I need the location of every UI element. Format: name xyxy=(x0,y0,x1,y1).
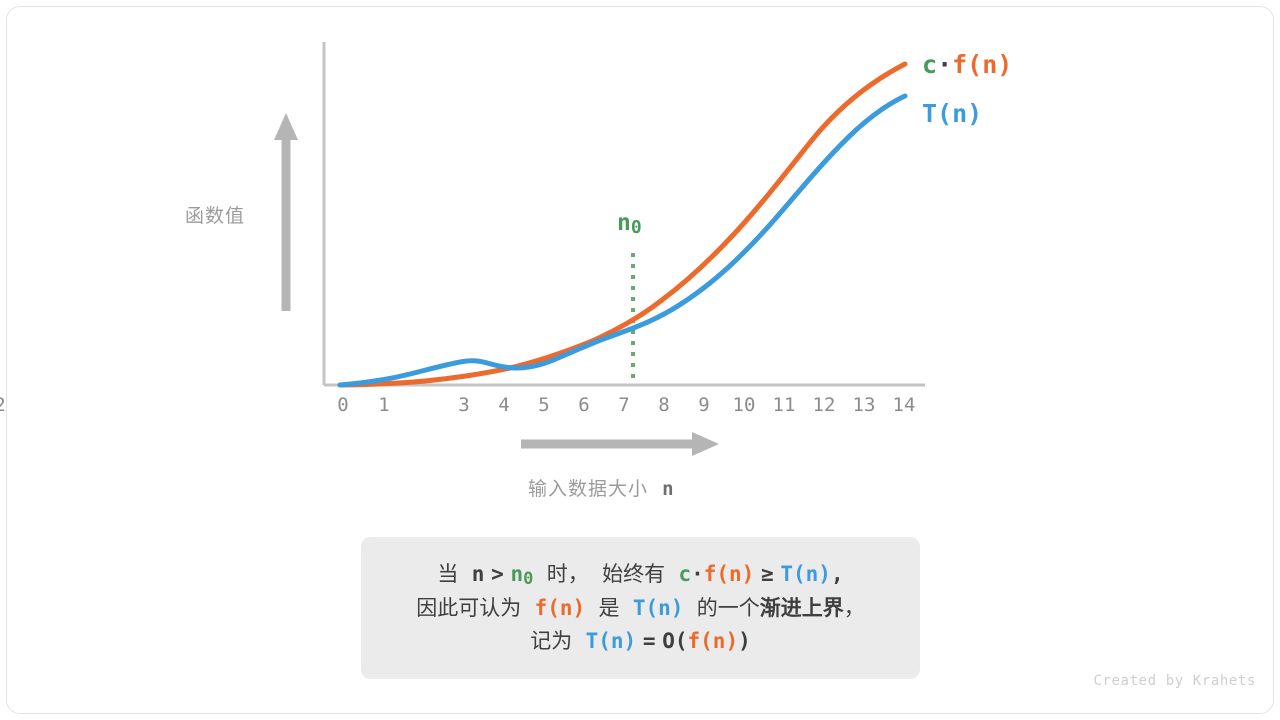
x-tick-label: 8 xyxy=(644,394,684,416)
x-tick-label: 11 xyxy=(764,394,804,416)
caption-line-2: 因此可认为 f(n) 是 T(n) 的一个渐进上界， xyxy=(416,595,865,623)
caption-l2-tn: T(n) xyxy=(633,596,684,620)
caption-l3-close-paren: ) xyxy=(738,629,751,653)
x-tick-label: 0 xyxy=(323,394,363,416)
caption-l2-comma: ， xyxy=(844,596,865,620)
legend-upper-function: f(n) xyxy=(952,50,1012,79)
caption-l3-tn: T(n) xyxy=(586,629,637,653)
caption-l1-fn: f(n) xyxy=(704,562,755,586)
caption-l3-denoted: 记为 xyxy=(530,629,572,653)
x-tick-label: 6 xyxy=(564,394,604,416)
caption-l1-ge: ≥ xyxy=(761,562,774,586)
caption-line-3: 记为 T(n) = O(f(n)) xyxy=(530,628,751,656)
caption-l1-comma: , xyxy=(831,562,844,586)
caption-l1-gt: > xyxy=(491,562,504,586)
x-tick-label: 7 xyxy=(604,394,644,416)
x-axis-arrow-icon xyxy=(521,432,719,456)
y-axis-arrow-icon xyxy=(274,113,298,311)
caption-l1-dot: · xyxy=(691,562,704,586)
x-tick-label: 3 xyxy=(444,394,484,416)
x-axis-label-text: 输入数据大小 xyxy=(528,478,648,500)
curve-lower-tn xyxy=(340,96,905,385)
x-tick-label: 12 xyxy=(804,394,844,416)
x-tick-label: 10 xyxy=(724,394,764,416)
caption-l1-coefficient: c xyxy=(678,562,691,586)
legend-label-upper-curve: c·f(n) xyxy=(922,50,1012,79)
caption-l2-is: 是 xyxy=(599,596,620,620)
x-tick-label: 4 xyxy=(484,394,524,416)
n0-marker-label: n0 xyxy=(617,210,642,238)
caption-l2-fn: f(n) xyxy=(535,596,586,620)
x-tick-label: 2 xyxy=(0,394,20,416)
caption-line-1: 当 n > n0 时， 始终有 c·f(n) ≥ T(n), xyxy=(437,561,843,590)
caption-l3-big-o: O( xyxy=(662,629,687,653)
caption-l2-of-a: 的一个 xyxy=(697,596,760,620)
caption-l3-equals: = xyxy=(643,629,656,653)
caption-box: 当 n > n0 时， 始终有 c·f(n) ≥ T(n), 因此可认为 f(n… xyxy=(361,537,920,679)
credit-text: Created by Krahets xyxy=(1093,673,1256,689)
x-tick-label: 14 xyxy=(884,394,924,416)
caption-l3-fn: f(n) xyxy=(688,629,739,653)
y-axis-label: 函数值 xyxy=(185,201,245,228)
caption-l1-always: 始终有 xyxy=(602,562,665,586)
caption-l1-n0: n0 xyxy=(510,562,533,586)
x-tick-label: 9 xyxy=(684,394,724,416)
legend-upper-coefficient: c xyxy=(922,50,937,79)
n0-marker-base: n xyxy=(617,210,631,236)
caption-l2-term: 渐进上界 xyxy=(760,596,844,620)
n0-marker-subscript: 0 xyxy=(631,217,642,238)
caption-l1-when: 当 xyxy=(437,562,458,586)
x-axis-variable: n xyxy=(662,478,674,500)
caption-l1-tn: T(n) xyxy=(780,562,831,586)
x-tick-label: 1 xyxy=(364,394,404,416)
caption-l1-then: 时， xyxy=(547,562,589,586)
figure-canvas: c·f(n) T(n) n0 函数值 输入数据大小 n 0 1 2 3 4 5 … xyxy=(0,0,1280,720)
x-axis-label: 输入数据大小 n xyxy=(528,474,675,501)
x-tick-label: 5 xyxy=(524,394,564,416)
legend-upper-dot: · xyxy=(937,50,952,79)
legend-label-lower-curve: T(n) xyxy=(922,99,982,128)
caption-l1-n: n xyxy=(472,562,485,586)
x-tick-label: 13 xyxy=(844,394,884,416)
caption-l2-therefore: 因此可认为 xyxy=(416,596,521,620)
